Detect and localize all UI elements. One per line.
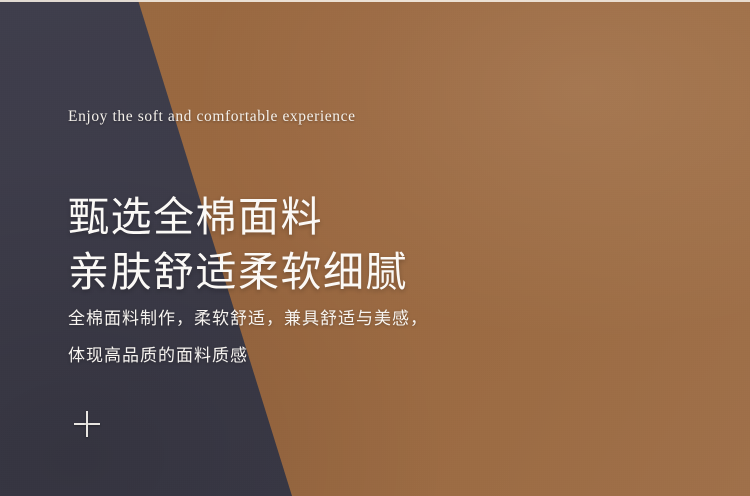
- page-title: 甄选全棉面料 亲肤舒适柔软细腻: [68, 190, 408, 300]
- headline-line-1: 甄选全棉面料: [68, 190, 408, 245]
- plus-icon[interactable]: [74, 411, 100, 437]
- body-description: 全棉面料制作，柔软舒适，兼具舒适与美感， 体现高品质的面料质感: [68, 300, 428, 374]
- body-line-1: 全棉面料制作，柔软舒适，兼具舒适与美感，: [68, 300, 428, 337]
- headline-line-2: 亲肤舒适柔软细腻: [68, 245, 408, 300]
- body-line-2: 体现高品质的面料质感: [68, 337, 428, 374]
- eyebrow-tagline: Enjoy the soft and comfortable experienc…: [68, 108, 356, 126]
- banner-content: Enjoy the soft and comfortable experienc…: [68, 0, 708, 496]
- plus-icon-vertical-bar: [86, 411, 88, 437]
- product-feature-banner: Enjoy the soft and comfortable experienc…: [0, 0, 750, 496]
